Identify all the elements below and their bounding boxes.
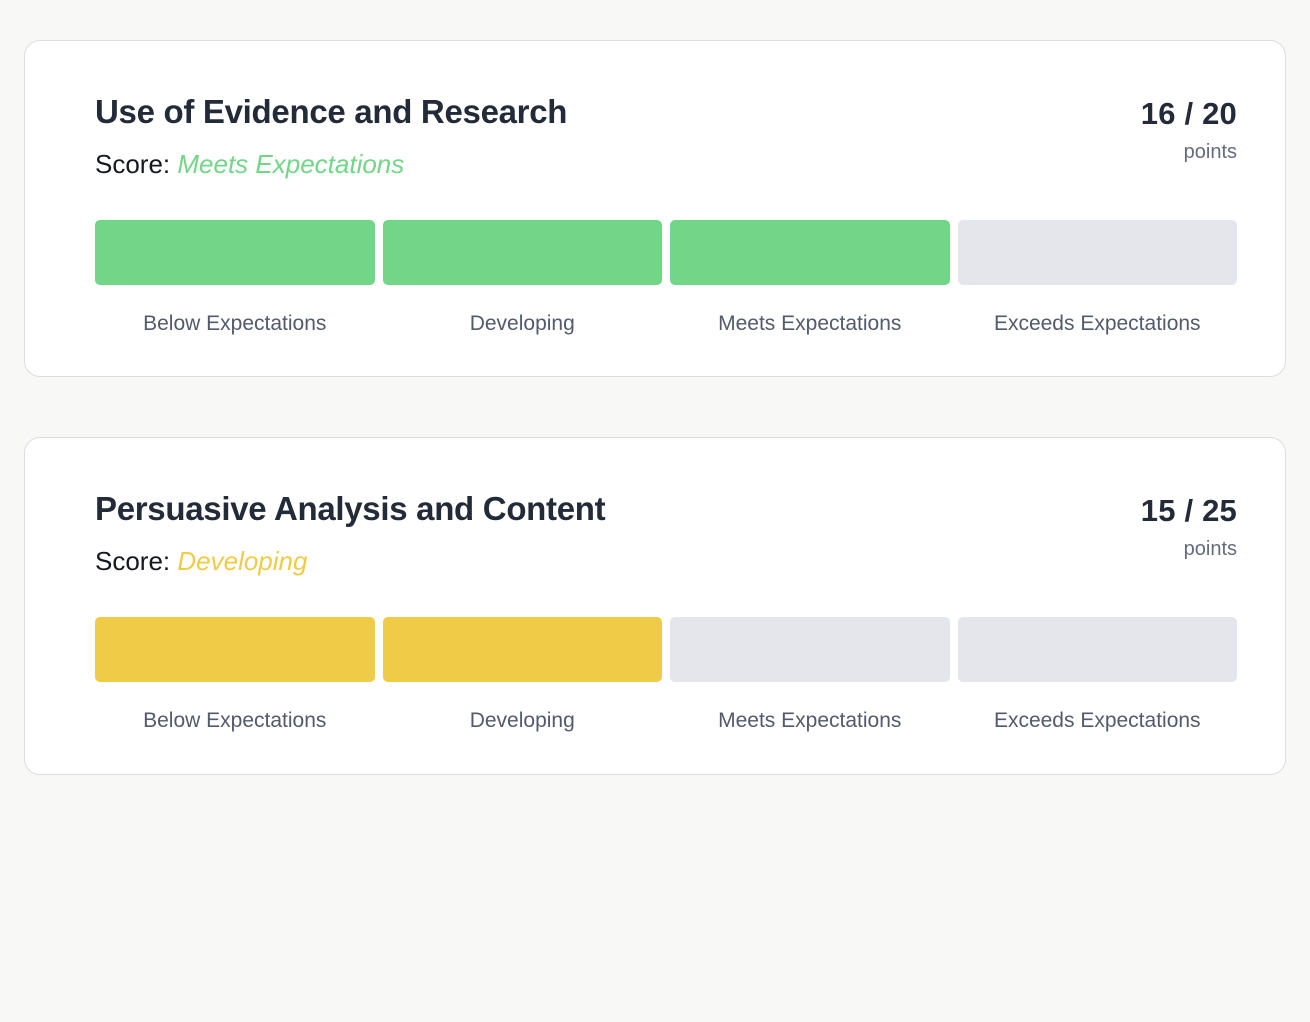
points-unit-label: points <box>1141 538 1237 560</box>
level-column[interactable]: Exceeds Expectations <box>958 617 1238 733</box>
level-label: Developing <box>383 312 663 336</box>
criterion-title: Use of Evidence and Research <box>95 93 567 131</box>
criterion-points: 16 / 20 points <box>1141 93 1237 163</box>
level-label: Exceeds Expectations <box>958 312 1238 336</box>
criterion-title: Persuasive Analysis and Content <box>95 490 605 528</box>
criterion-score-line: Score: Developing <box>95 546 605 577</box>
level-bar <box>670 220 950 285</box>
level-label: Developing <box>383 709 663 733</box>
level-column[interactable]: Exceeds Expectations <box>958 220 1238 336</box>
level-bar <box>95 617 375 682</box>
score-prefix-label: Score: <box>95 149 177 179</box>
level-column[interactable]: Below Expectations <box>95 617 375 733</box>
level-bar <box>383 220 663 285</box>
points-value: 15 / 25 <box>1141 494 1237 528</box>
criterion-header-left: Use of Evidence and Research Score: Meet… <box>95 93 567 180</box>
points-unit-label: points <box>1141 141 1237 163</box>
level-bar <box>383 617 663 682</box>
level-column[interactable]: Meets Expectations <box>670 220 950 336</box>
score-prefix-label: Score: <box>95 546 177 576</box>
criterion-card: Use of Evidence and Research Score: Meet… <box>24 40 1286 377</box>
rubric-criteria-list: Use of Evidence and Research Score: Meet… <box>0 0 1310 1022</box>
level-label: Below Expectations <box>95 709 375 733</box>
level-label: Meets Expectations <box>670 312 950 336</box>
level-track: Below Expectations Developing Meets Expe… <box>95 220 1237 336</box>
level-bar <box>958 617 1238 682</box>
criterion-points: 15 / 25 points <box>1141 490 1237 560</box>
level-label: Below Expectations <box>95 312 375 336</box>
level-column[interactable]: Meets Expectations <box>670 617 950 733</box>
level-column[interactable]: Below Expectations <box>95 220 375 336</box>
level-column[interactable]: Developing <box>383 220 663 336</box>
score-level-value: Developing <box>177 546 307 576</box>
level-column[interactable]: Developing <box>383 617 663 733</box>
score-level-value: Meets Expectations <box>177 149 404 179</box>
criterion-header: Use of Evidence and Research Score: Meet… <box>95 93 1237 180</box>
points-value: 16 / 20 <box>1141 97 1237 131</box>
level-label: Exceeds Expectations <box>958 709 1238 733</box>
level-bar <box>670 617 950 682</box>
level-track: Below Expectations Developing Meets Expe… <box>95 617 1237 733</box>
criterion-header: Persuasive Analysis and Content Score: D… <box>95 490 1237 577</box>
criterion-card: Persuasive Analysis and Content Score: D… <box>24 437 1286 774</box>
criterion-score-line: Score: Meets Expectations <box>95 149 567 180</box>
level-bar <box>958 220 1238 285</box>
level-bar <box>95 220 375 285</box>
level-label: Meets Expectations <box>670 709 950 733</box>
criterion-header-left: Persuasive Analysis and Content Score: D… <box>95 490 605 577</box>
